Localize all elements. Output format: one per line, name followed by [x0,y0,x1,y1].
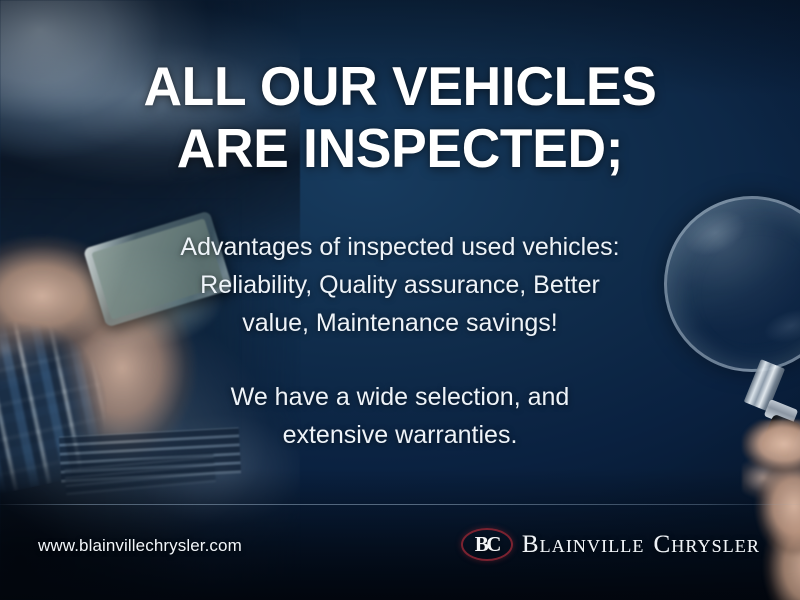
paragraph-1-line-1: Advantages of inspected used vehicles: [0,228,800,266]
paragraph-spacer [0,342,800,378]
brand-word-chrysler: Chrysler [654,531,761,558]
paragraph-selection: We have a wide selection, and extensive … [0,378,800,454]
monogram-letters: BC [461,528,513,561]
promotional-slide: ALL OUR VEHICLES ARE INSPECTED; Advantag… [0,0,800,600]
paragraph-advantages: Advantages of inspected used vehicles: R… [0,228,800,342]
body-copy: Advantages of inspected used vehicles: R… [0,228,800,454]
paragraph-2-line-2: extensive warranties. [0,416,800,454]
brand-wordmark: BlainvilleChrysler [522,531,760,559]
paragraph-1-line-2: Reliability, Quality assurance, Better [0,266,800,304]
brand-word-blainville: Blainville [522,531,645,558]
brand-logo[interactable]: BC BlainvilleChrysler [461,528,760,561]
paragraph-2-line-1: We have a wide selection, and [0,378,800,416]
slide-content: ALL OUR VEHICLES ARE INSPECTED; Advantag… [0,0,800,600]
page-title: ALL OUR VEHICLES ARE INSPECTED; [12,56,788,179]
footer: www.blainvillechrysler.com BC Blainville… [0,524,800,582]
footer-divider [0,504,800,505]
headline-line-1: ALL OUR VEHICLES [12,56,788,118]
brand-monogram-icon: BC [461,528,513,561]
paragraph-1-line-3: value, Maintenance savings! [0,304,800,342]
headline-line-2: ARE INSPECTED; [12,118,788,180]
website-url[interactable]: www.blainvillechrysler.com [38,536,242,556]
